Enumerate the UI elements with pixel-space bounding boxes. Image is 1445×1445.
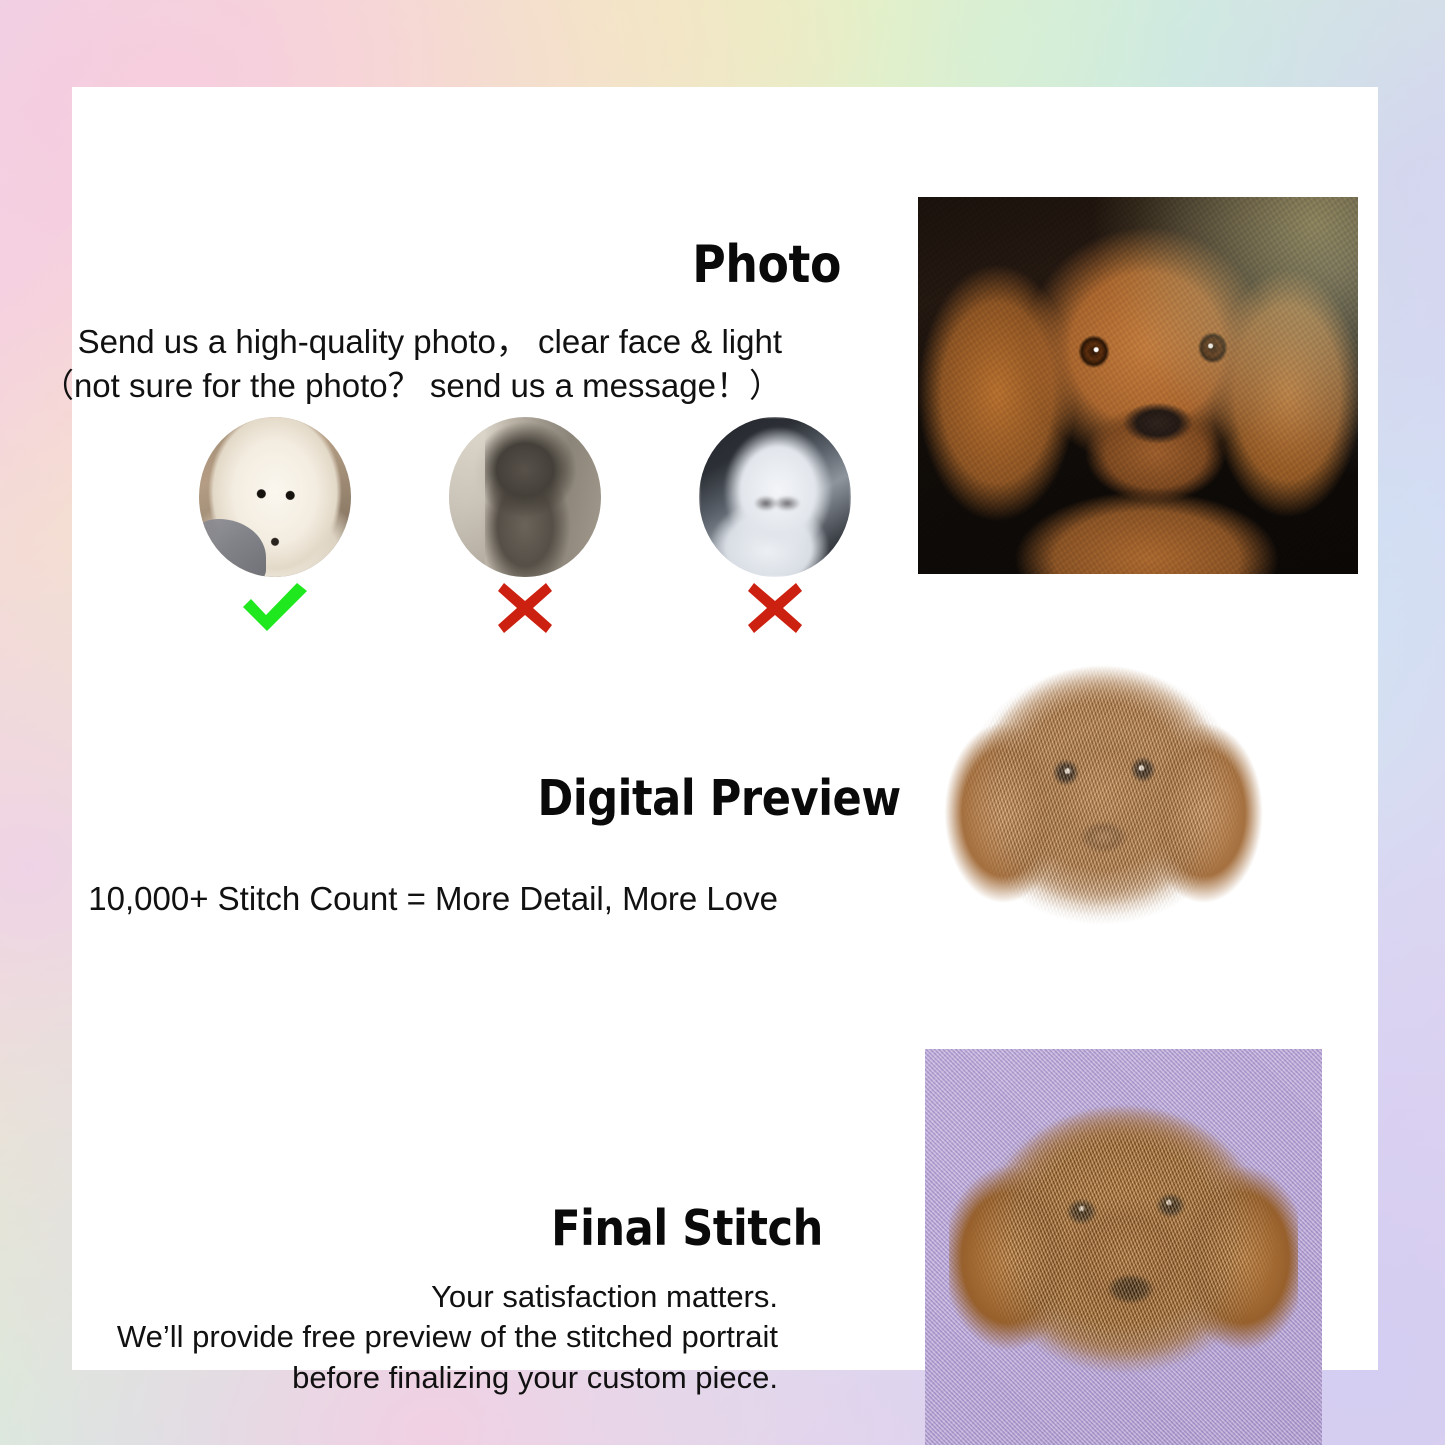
final-stitch-text-line-3: before finalizing your custom piece. — [117, 1358, 778, 1398]
photo-text-line-1: Send us a high-quality photo， clear face… — [41, 320, 782, 364]
example-bad-blurry — [690, 417, 860, 632]
blurry-dog-render — [699, 417, 851, 577]
example-good-image — [199, 417, 351, 577]
example-photos-row — [172, 417, 892, 632]
final-stitch-text-line-2: We’ll provide free preview of the stitch… — [117, 1317, 778, 1357]
check-icon — [190, 579, 360, 639]
cross-icon — [690, 579, 860, 641]
content-card: Photo Send us a high-quality photo， clea… — [72, 87, 1378, 1370]
photo-section-heading: Photo — [692, 235, 841, 295]
photo-section-text: Send us a high-quality photo， clear face… — [41, 320, 782, 408]
final-stitch-heading: Final Stitch — [551, 1200, 823, 1257]
cross-icon — [440, 579, 610, 641]
example-bad-blurry-image — [699, 417, 851, 577]
photo-text-line-2: （not sure for the photo？ send us a messa… — [41, 364, 782, 408]
digital-preview-text: 10,000+ Stitch Count = More Detail, More… — [88, 877, 778, 921]
stitched-poodle-render — [949, 1085, 1298, 1395]
poster-background: Photo Send us a high-quality photo， clea… — [0, 0, 1445, 1445]
final-stitch-text-line-1: Your satisfaction matters. — [117, 1277, 778, 1317]
example-good — [190, 417, 360, 632]
digital-preview-image — [938, 645, 1266, 945]
poodle-photo-render — [918, 197, 1358, 574]
example-bad-dark — [440, 417, 610, 632]
dark-poodle-render — [449, 417, 601, 577]
digital-preview-heading: Digital Preview — [538, 770, 901, 827]
embroidery-render — [938, 645, 1266, 945]
final-stitch-image — [925, 1049, 1322, 1445]
digital-preview-text-line-1: 10,000+ Stitch Count = More Detail, More… — [88, 880, 778, 917]
white-bichon-render — [199, 417, 351, 577]
example-bad-dark-image — [449, 417, 601, 577]
final-stitch-text: Your satisfaction matters. We’ll provide… — [117, 1277, 778, 1398]
reference-photo-image — [918, 197, 1358, 574]
